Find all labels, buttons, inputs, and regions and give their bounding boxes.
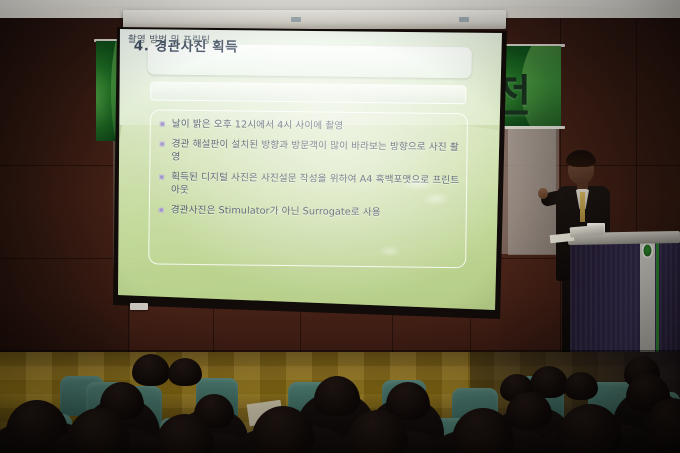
audience-head	[506, 392, 552, 430]
slide-subtitle: 촬영 방법 및 프린팅	[128, 31, 210, 46]
lecture-hall-photo: 전 4. 경관사진 획득 촬영 방법 및 프린팅 날이 밝은 오후 12시에서 …	[0, 0, 680, 453]
screen-pull-tab	[130, 303, 148, 310]
audience-head	[132, 354, 170, 386]
slide-subtitle-box	[150, 81, 466, 104]
slide-content: 4. 경관사진 획득 촬영 방법 및 프린팅 날이 밝은 오후 12시에서 4시…	[118, 29, 502, 315]
presenter-hair	[566, 150, 596, 167]
audience-head	[168, 358, 202, 386]
housing-marking	[459, 17, 469, 22]
slide-bullet: 경관 해설판이 설치된 방향과 방문객이 많이 바라보는 방향으로 사진 촬영	[157, 137, 465, 168]
screen-housing	[123, 10, 506, 29]
projection-screen: 4. 경관사진 획득 촬영 방법 및 프린팅 날이 밝은 오후 12시에서 4시…	[118, 29, 502, 315]
presenter-hand	[538, 188, 548, 199]
housing-marking	[291, 17, 301, 22]
audience-head	[314, 376, 360, 416]
audience	[0, 352, 680, 453]
podium-accent-line	[656, 236, 659, 366]
audience-head	[564, 372, 598, 400]
slide-bullet: 날이 밝은 오후 12시에서 4시 사이에 촬영	[158, 117, 466, 134]
slide-bullet-list: 날이 밝은 오후 12시에서 4시 사이에 촬영 경관 해설판이 설치된 방향과…	[157, 117, 466, 226]
slide-bullet: 획득된 디지털 사진은 사진설문 작성을 위하여 A4 흑백포맷으로 프린트아웃	[157, 170, 465, 201]
presenter-tie	[580, 192, 585, 222]
slide-bullet: 경관사진은 Stimulator가 아닌 Surrogate로 사용	[157, 203, 465, 220]
leaf-emblem-icon	[642, 243, 653, 258]
